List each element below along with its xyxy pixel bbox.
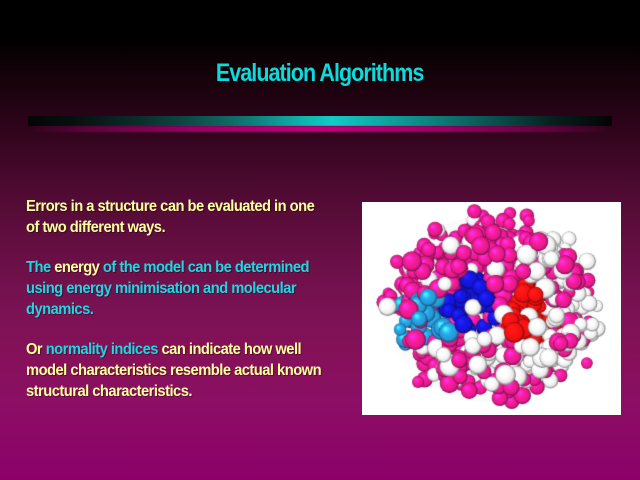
paragraph-2: The energy of the model can be determine… (26, 257, 328, 320)
slide-canvas: Evaluation Algorithms Errors in a struct… (0, 0, 640, 480)
body-text-block: Errors in a structure can be evaluated i… (26, 196, 344, 402)
paragraph-1: Errors in a structure can be evaluated i… (26, 196, 328, 238)
paragraph-2-highlight-energy: energy (54, 259, 99, 276)
paragraph-2-run-1: The (26, 259, 54, 276)
molecule-space-filling-model-image (362, 202, 621, 415)
page-title: Evaluation Algorithms (216, 60, 424, 86)
divider-shadow (28, 126, 612, 132)
molecule-image-panel (362, 202, 621, 415)
paragraph-3-run-1: Or (26, 341, 46, 358)
title-block: Evaluation Algorithms (0, 60, 640, 86)
paragraph-3: Or normality indices can indicate how we… (26, 339, 328, 402)
paragraph-3-highlight-normality-indices: normality indices (46, 341, 158, 358)
title-divider (28, 114, 612, 133)
divider-bar (28, 116, 612, 126)
